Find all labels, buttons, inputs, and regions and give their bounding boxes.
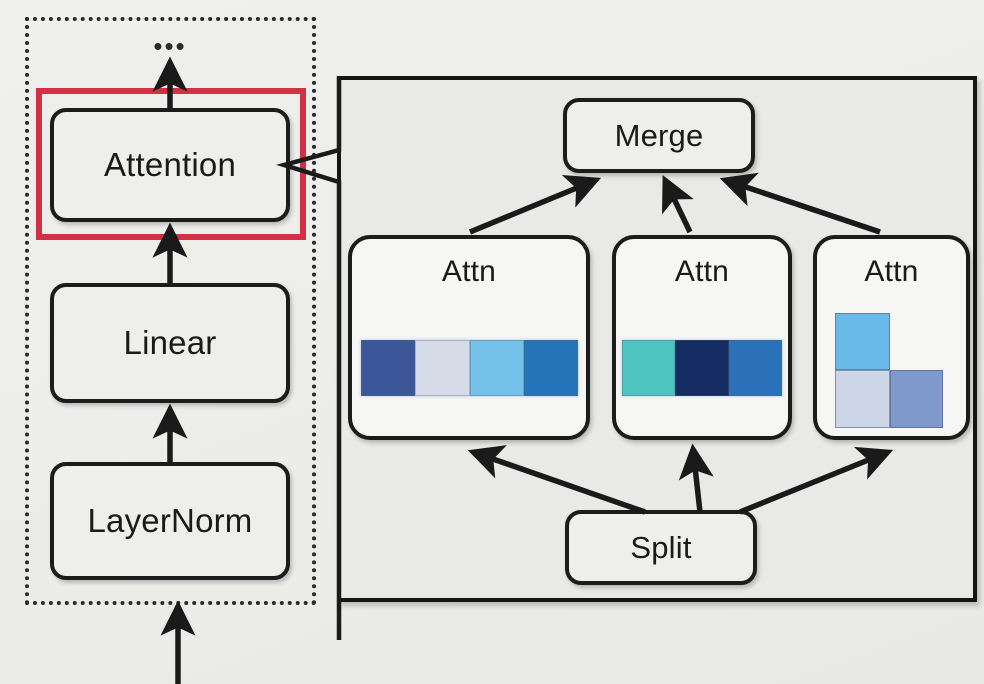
node-merge-label: Merge: [615, 118, 704, 154]
tile-top-left: [835, 313, 890, 370]
node-attn-head-2[interactable]: Attn: [612, 235, 792, 440]
swatch: [415, 340, 469, 396]
attn-head-1-swatch-strip: [361, 340, 578, 396]
attn-head-3-tile-grid: [835, 313, 943, 428]
node-merge[interactable]: Merge: [563, 98, 755, 173]
node-attn-head-3-label: Attn: [864, 255, 918, 289]
node-attention[interactable]: Attention: [50, 108, 290, 222]
node-attn-head-2-label: Attn: [675, 255, 729, 289]
tile-bottom-left: [835, 370, 890, 428]
swatch: [675, 340, 728, 396]
swatch: [524, 340, 578, 396]
ellipsis-label: •••: [150, 33, 190, 59]
swatch: [622, 340, 675, 396]
node-attention-label: Attention: [104, 146, 236, 184]
node-attn-head-1-label: Attn: [442, 255, 496, 289]
node-layernorm-label: LayerNorm: [87, 502, 252, 540]
diagram-canvas: ••• Attention Linear LayerNorm Merge Att…: [0, 0, 984, 684]
node-split[interactable]: Split: [565, 510, 757, 585]
swatch: [361, 340, 415, 396]
tile-bottom-right: [890, 370, 943, 428]
node-attn-head-1[interactable]: Attn: [348, 235, 590, 440]
swatch: [729, 340, 782, 396]
node-split-label: Split: [630, 530, 691, 566]
node-linear-label: Linear: [124, 324, 217, 362]
swatch: [470, 340, 524, 396]
node-layernorm[interactable]: LayerNorm: [50, 462, 290, 580]
attn-head-2-swatch-strip: [622, 340, 782, 396]
node-linear[interactable]: Linear: [50, 283, 290, 403]
